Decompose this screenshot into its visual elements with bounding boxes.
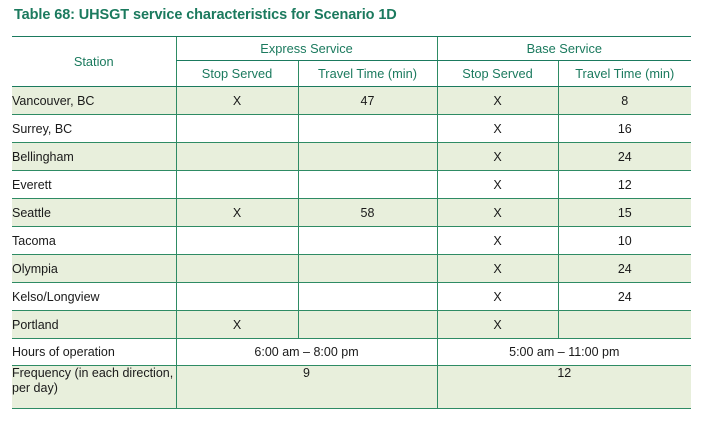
column-header-express-travel-time: Travel Time (min) [298, 61, 437, 87]
cell-base-stop: X [437, 171, 558, 199]
cell-express-stop [176, 227, 298, 255]
cell-base-time: 16 [558, 115, 691, 143]
column-group-base-service: Base Service [437, 37, 691, 61]
cell-base-stop: X [437, 143, 558, 171]
cell-base-time: 12 [558, 171, 691, 199]
cell-express-stop: X [176, 311, 298, 339]
column-header-base-stop-served: Stop Served [437, 61, 558, 87]
cell-express-stop [176, 283, 298, 311]
cell-express-stop [176, 171, 298, 199]
cell-hours-express: 6:00 am – 8:00 pm [176, 339, 437, 366]
cell-hours-label: Hours of operation [12, 339, 176, 366]
cell-express-stop [176, 255, 298, 283]
cell-express-stop: X [176, 87, 298, 115]
cell-base-stop: X [437, 283, 558, 311]
cell-express-time: 58 [298, 199, 437, 227]
column-header-base-travel-time: Travel Time (min) [558, 61, 691, 87]
cell-base-time: 8 [558, 87, 691, 115]
cell-base-time: 24 [558, 283, 691, 311]
cell-base-stop: X [437, 115, 558, 143]
cell-hours-base: 5:00 am – 11:00 pm [437, 339, 691, 366]
table-row: Olympia X 24 [12, 255, 691, 283]
cell-base-time: 15 [558, 199, 691, 227]
cell-station: Olympia [12, 255, 176, 283]
table-row: Seattle X 58 X 15 [12, 199, 691, 227]
cell-base-time: 24 [558, 143, 691, 171]
cell-express-time [298, 171, 437, 199]
table-row: Kelso/Longview X 24 [12, 283, 691, 311]
cell-express-stop: X [176, 199, 298, 227]
table-row: Everett X 12 [12, 171, 691, 199]
cell-frequency-label: Frequency (in each direction, per day) [12, 366, 176, 409]
cell-station: Tacoma [12, 227, 176, 255]
cell-express-time [298, 115, 437, 143]
cell-express-time [298, 143, 437, 171]
column-header-station: Station [12, 37, 176, 87]
table-page: Table 68: UHSGT service characteristics … [0, 0, 701, 421]
column-header-express-stop-served: Stop Served [176, 61, 298, 87]
cell-express-time: 47 [298, 87, 437, 115]
table-body: Vancouver, BC X 47 X 8 Surrey, BC X 16 B… [12, 87, 691, 409]
table-row: Vancouver, BC X 47 X 8 [12, 87, 691, 115]
cell-express-time [298, 311, 437, 339]
cell-base-time: 24 [558, 255, 691, 283]
service-characteristics-table: Station Express Service Base Service Sto… [12, 36, 691, 409]
cell-station: Everett [12, 171, 176, 199]
cell-frequency-base: 12 [437, 366, 691, 409]
cell-station: Portland [12, 311, 176, 339]
cell-base-stop: X [437, 199, 558, 227]
cell-base-time [558, 311, 691, 339]
table-row: Surrey, BC X 16 [12, 115, 691, 143]
cell-base-stop: X [437, 87, 558, 115]
cell-station: Kelso/Longview [12, 283, 176, 311]
cell-station: Seattle [12, 199, 176, 227]
cell-express-time [298, 283, 437, 311]
cell-base-time: 10 [558, 227, 691, 255]
frequency-row: Frequency (in each direction, per day) 9… [12, 366, 691, 409]
header-group-row: Station Express Service Base Service [12, 37, 691, 61]
cell-express-time [298, 255, 437, 283]
hours-of-operation-row: Hours of operation 6:00 am – 8:00 pm 5:0… [12, 339, 691, 366]
table-row: Bellingham X 24 [12, 143, 691, 171]
table-row: Portland X X [12, 311, 691, 339]
cell-station: Vancouver, BC [12, 87, 176, 115]
cell-station: Bellingham [12, 143, 176, 171]
table-row: Tacoma X 10 [12, 227, 691, 255]
table-header: Station Express Service Base Service Sto… [12, 37, 691, 87]
cell-frequency-express: 9 [176, 366, 437, 409]
page-title: Table 68: UHSGT service characteristics … [14, 7, 397, 23]
cell-base-stop: X [437, 311, 558, 339]
cell-station: Surrey, BC [12, 115, 176, 143]
cell-express-stop [176, 143, 298, 171]
cell-express-stop [176, 115, 298, 143]
column-group-express-service: Express Service [176, 37, 437, 61]
cell-base-stop: X [437, 227, 558, 255]
cell-base-stop: X [437, 255, 558, 283]
cell-express-time [298, 227, 437, 255]
